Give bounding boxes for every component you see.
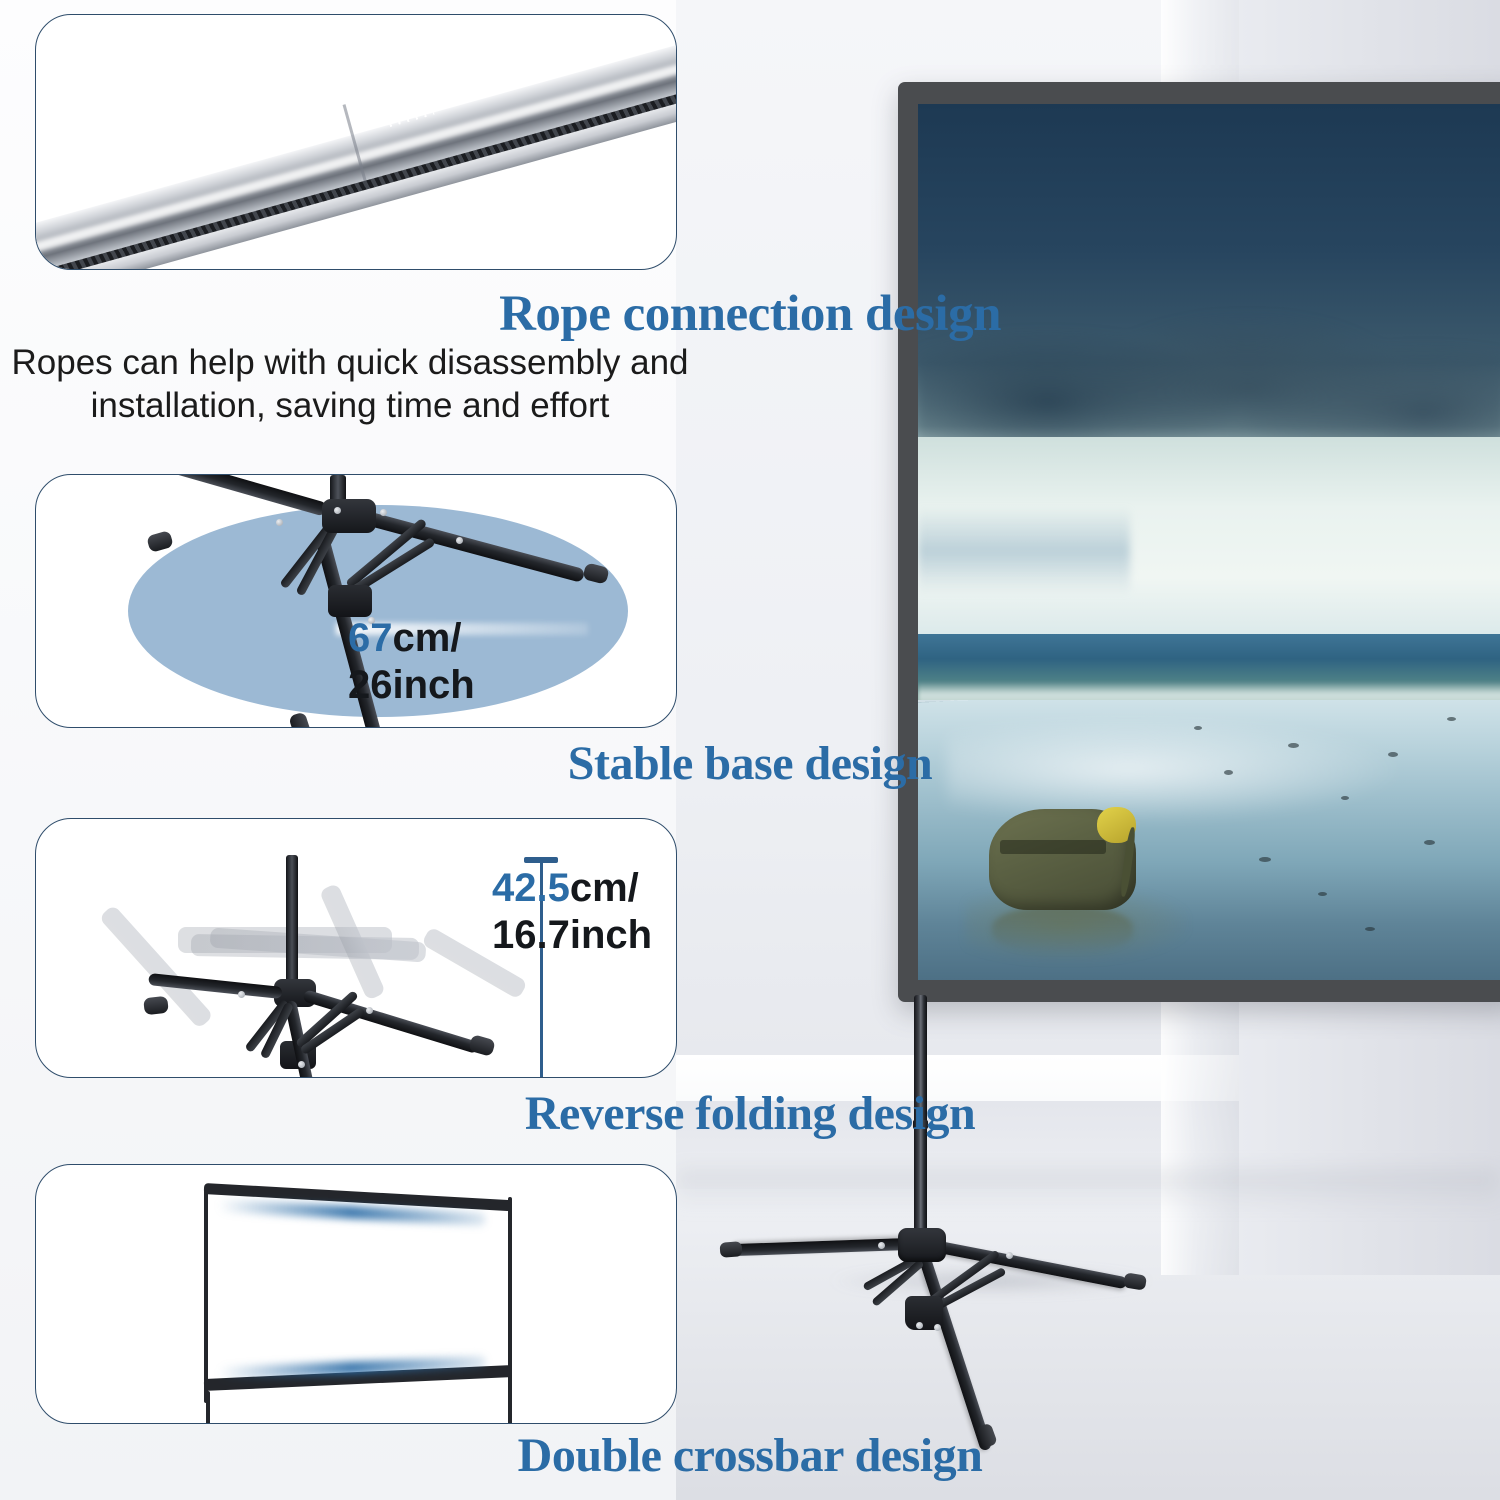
folding-center-pole xyxy=(286,855,298,991)
tripod-foot-left xyxy=(720,1241,743,1257)
feature-panel-rope-connection xyxy=(35,14,677,270)
product-infographic: Rope connection design Ropes can help wi… xyxy=(0,0,1500,1500)
projector-screen xyxy=(898,82,1500,1002)
base-lower-collar xyxy=(328,585,372,617)
feature-panel-stable-base: 67cm/ 26inch xyxy=(35,474,677,728)
base-leg-left xyxy=(159,474,328,517)
measurement-base-width: 67cm/ 26inch xyxy=(348,615,475,709)
measurement-folded-height: 42.5cm/ 16.7inch xyxy=(492,865,652,959)
dimension-cap-top xyxy=(524,857,558,863)
sky-streak xyxy=(918,507,1130,595)
folded-foot-right xyxy=(468,1034,496,1057)
folding-pin xyxy=(238,991,245,998)
base-pin xyxy=(380,509,387,516)
backpack-reflection xyxy=(992,906,1133,954)
heading-rope-connection: Rope connection design xyxy=(0,285,1500,343)
backpack-strap xyxy=(1000,840,1106,854)
tripod-pin xyxy=(1006,1252,1013,1259)
tripod-pin xyxy=(934,1324,941,1331)
body-rope-connection: Ropes can help with quick disassembly an… xyxy=(0,341,700,427)
folding-pin xyxy=(366,1007,373,1014)
base-hub xyxy=(322,499,376,533)
folded-foot-left xyxy=(143,996,169,1015)
base-foot-left xyxy=(146,530,174,553)
tripod-pin xyxy=(916,1322,923,1329)
measure-unit: cm/ xyxy=(570,866,639,910)
frame-post-right xyxy=(508,1197,512,1401)
heading-stable-base: Stable base design xyxy=(0,736,1500,791)
tripod-pin xyxy=(878,1242,885,1249)
base-pin xyxy=(334,507,341,514)
chrome-pole-image xyxy=(36,15,676,269)
measure-alt-value: 16.7inch xyxy=(492,913,652,957)
measure-unit: cm/ xyxy=(393,616,462,660)
measure-value: 67 xyxy=(348,616,393,660)
frame-post-left xyxy=(204,1187,208,1403)
base-pin xyxy=(456,537,463,544)
frame-foot-left xyxy=(206,1391,210,1424)
feature-panel-double-crossbar xyxy=(35,1164,677,1424)
heading-reverse-folding: Reverse folding design xyxy=(0,1086,1500,1141)
base-pin xyxy=(276,519,283,526)
measure-value: 42.5 xyxy=(492,866,570,910)
frame-foot-right xyxy=(508,1391,512,1424)
folding-pin xyxy=(298,1061,305,1068)
measure-alt-value: 26inch xyxy=(348,663,475,707)
tripod-hub xyxy=(898,1228,946,1262)
feature-panel-reverse-folding: 42.5cm/ 16.7inch xyxy=(35,818,677,1078)
base-foot-front xyxy=(288,711,312,728)
floor-contact-shadow xyxy=(676,1170,1500,1210)
heading-double-crossbar: Double crossbar design xyxy=(0,1428,1500,1483)
sand-debris xyxy=(1424,840,1435,845)
screen-projection-surface xyxy=(918,104,1500,980)
